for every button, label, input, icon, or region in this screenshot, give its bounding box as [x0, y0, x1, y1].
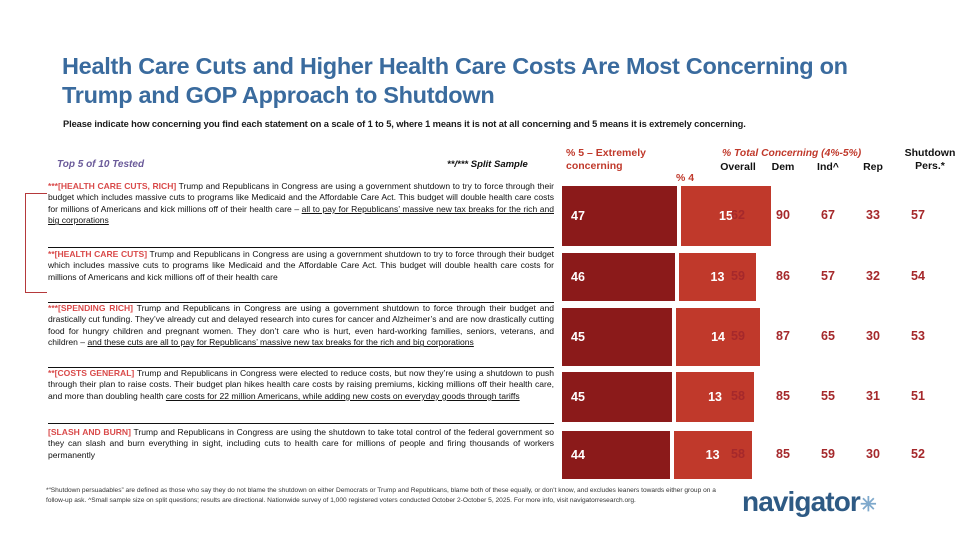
footnote: *“Shutdown persuadables” are defined as … [46, 486, 726, 505]
column-header-ind: Ind^ [806, 161, 850, 173]
bar-pct5-row-3: 45 [562, 308, 672, 366]
cell-dem-row-4: 85 [761, 389, 805, 403]
cell-overall-row-3: 59 [716, 329, 760, 343]
bar-pct5-value-5: 44 [562, 448, 585, 462]
bar-pct5-value-2: 46 [562, 270, 585, 284]
cell-overall-row-4: 58 [716, 389, 760, 403]
statement-text-1: ***[HEALTH CARE CUTS, RICH] Trump and Re… [48, 181, 554, 227]
cell-ind-row-5: 59 [806, 447, 850, 461]
split-sample-note: **/*** Split Sample [447, 159, 528, 170]
cell-ind-row-2: 57 [806, 269, 850, 283]
row-divider-4 [48, 423, 554, 424]
statement-text-4: **[COSTS GENERAL] Trump and Republicans … [48, 368, 554, 402]
bar-pct5-row-4: 45 [562, 372, 672, 422]
shutdown-header-line2: Pers.* [895, 160, 960, 173]
shutdown-header-line1: Shutdown [905, 147, 956, 159]
cell-overall-row-5: 58 [716, 447, 760, 461]
column-header-dem: Dem [761, 161, 805, 173]
page-title: Health Care Cuts and Higher Health Care … [62, 52, 862, 110]
column-header-total-concerning: % Total Concerning (4%-5%) [722, 148, 861, 159]
cell-rep-row-5: 30 [851, 447, 895, 461]
cell-shutdown-pers-row-5: 52 [896, 447, 940, 461]
highlight-bracket [25, 193, 47, 293]
statement-text-3: ***[SPENDING RICH] Trump and Republicans… [48, 303, 554, 349]
cell-shutdown-pers-row-4: 51 [896, 389, 940, 403]
cell-dem-row-1: 90 [761, 208, 805, 222]
bar-pct5-value-4: 45 [562, 390, 585, 404]
cell-ind-row-4: 55 [806, 389, 850, 403]
bar-pct5-row-2: 46 [562, 253, 675, 301]
cell-shutdown-pers-row-1: 57 [896, 208, 940, 222]
column-header-pct5: % 5 – Extremely concerning [566, 147, 686, 174]
bar-pct5-row-1: 47 [562, 186, 677, 246]
cell-overall-row-1: 62 [716, 208, 760, 222]
column-header-rep: Rep [851, 161, 895, 173]
cell-dem-row-3: 87 [761, 329, 805, 343]
navigator-logo: navigator✳ [742, 486, 876, 518]
slide-root: Health Care Cuts and Higher Health Care … [0, 0, 960, 540]
column-header-overall: Overall [716, 161, 760, 173]
cell-shutdown-pers-row-2: 54 [896, 269, 940, 283]
navigator-logo-text: navigator [742, 486, 860, 517]
column-header-shutdown-pers: Shutdown Pers.* [895, 147, 960, 174]
page-subtitle: Please indicate how concerning you find … [63, 119, 903, 129]
cell-ind-row-3: 65 [806, 329, 850, 343]
cell-shutdown-pers-row-3: 53 [896, 329, 940, 343]
top-tested-note: Top 5 of 10 Tested [57, 159, 144, 170]
statement-text-5: [SLASH AND BURN] Trump and Republicans i… [48, 427, 554, 461]
cell-ind-row-1: 67 [806, 208, 850, 222]
bar-pct5-value-1: 47 [562, 209, 585, 223]
cell-dem-row-2: 86 [761, 269, 805, 283]
navigator-star-icon: ✳ [860, 494, 876, 516]
cell-rep-row-1: 33 [851, 208, 895, 222]
cell-overall-row-2: 59 [716, 269, 760, 283]
statement-text-2: **[HEALTH CARE CUTS] Trump and Republica… [48, 249, 554, 283]
bar-pct5-row-5: 44 [562, 431, 670, 479]
cell-rep-row-2: 32 [851, 269, 895, 283]
column-header-pct4: % 4 [676, 172, 694, 184]
row-divider-1 [48, 247, 554, 248]
cell-dem-row-5: 85 [761, 447, 805, 461]
cell-rep-row-3: 30 [851, 329, 895, 343]
bar-pct5-value-3: 45 [562, 330, 585, 344]
cell-rep-row-4: 31 [851, 389, 895, 403]
